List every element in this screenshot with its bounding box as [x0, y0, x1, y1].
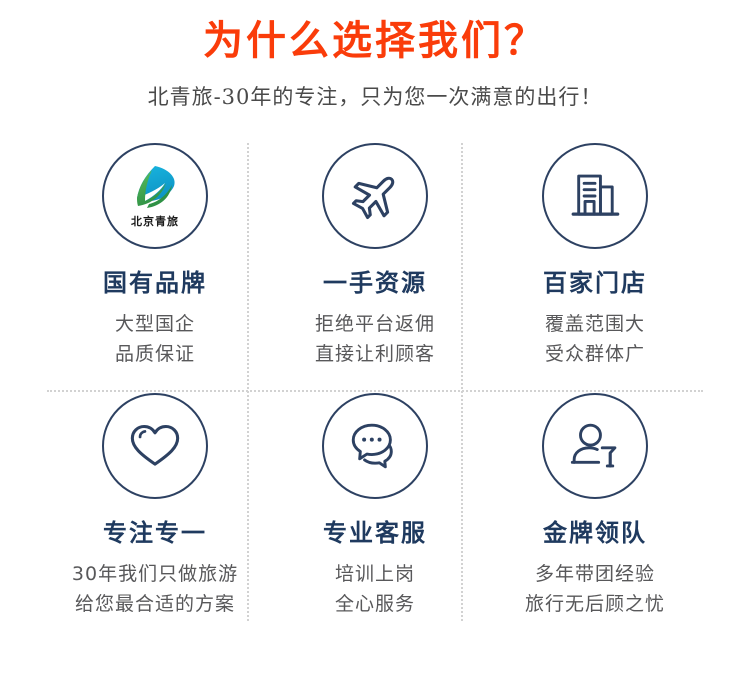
feature-line: 全心服务: [335, 590, 415, 619]
feature-line: 品质保证: [115, 340, 195, 369]
feature-card-state-owned-brand[interactable]: 北京青旅 国有品牌 大型国企 品质保证: [45, 139, 265, 389]
icon-circle: [322, 393, 428, 499]
feature-line: 覆盖范围大: [545, 310, 645, 339]
feature-card-first-hand-resources[interactable]: 一手资源 拒绝平台返佣 直接让利顾客: [265, 139, 485, 389]
feature-title: 金牌领队: [543, 519, 647, 548]
feature-title: 专业客服: [323, 519, 427, 548]
feature-line: 培训上岗: [335, 560, 415, 589]
feature-line: 给您最合适的方案: [72, 590, 238, 619]
feature-line: 直接让利顾客: [315, 340, 435, 369]
icon-circle: [322, 143, 428, 249]
promo-banner: 为什么选择我们？ 北青旅-30年的专注，只为您一次满意的出行！: [0, 0, 750, 690]
brand-logo-icon: 北京青旅: [125, 164, 185, 229]
storefront-building-icon: [566, 167, 624, 225]
feature-description: 拒绝平台返佣 直接让利顾客: [315, 310, 435, 369]
feature-description: 培训上岗 全心服务: [335, 560, 415, 619]
header: 为什么选择我们？ 北青旅-30年的专注，只为您一次满意的出行！: [0, 0, 750, 111]
feature-line: 多年带团经验: [525, 560, 665, 589]
feature-line: 大型国企: [115, 310, 195, 339]
icon-circle: 北京青旅: [102, 143, 208, 249]
feature-card-gold-tour-leader[interactable]: 金牌领队 多年带团经验 旅行无后顾之忧: [485, 389, 705, 639]
chat-bubbles-icon: [346, 417, 404, 475]
page-title: 为什么选择我们？: [0, 16, 750, 66]
features-grid: 北京青旅 国有品牌 大型国企 品质保证 一手资源 拒绝平台返佣 直接让利: [45, 139, 705, 639]
tour-guide-person-flag-icon: [566, 417, 624, 475]
feature-description: 30年我们只做旅游 给您最合适的方案: [72, 560, 238, 619]
feature-title: 百家门店: [543, 269, 647, 298]
feature-title: 一手资源: [323, 269, 427, 298]
feature-title: 国有品牌: [103, 269, 207, 298]
feature-line: 旅行无后顾之忧: [525, 590, 665, 619]
feature-card-focus[interactable]: 专注专一 30年我们只做旅游 给您最合适的方案: [45, 389, 265, 639]
feature-title: 专注专一: [103, 519, 207, 548]
heart-icon: [126, 417, 184, 475]
feature-description: 多年带团经验 旅行无后顾之忧: [525, 560, 665, 619]
icon-circle: [542, 143, 648, 249]
page-subtitle: 北青旅-30年的专注，只为您一次满意的出行！: [0, 84, 750, 111]
icon-circle: [102, 393, 208, 499]
feature-line: 30年我们只做旅游: [72, 560, 238, 589]
airplane-icon: [346, 167, 404, 225]
feature-line: 拒绝平台返佣: [315, 310, 435, 339]
feature-card-hundred-stores[interactable]: 百家门店 覆盖范围大 受众群体广: [485, 139, 705, 389]
feature-description: 大型国企 品质保证: [115, 310, 195, 369]
feature-line: 受众群体广: [545, 340, 645, 369]
feature-description: 覆盖范围大 受众群体广: [545, 310, 645, 369]
feature-card-professional-service[interactable]: 专业客服 培训上岗 全心服务: [265, 389, 485, 639]
logo-brand-text: 北京青旅: [131, 213, 179, 229]
icon-circle: [542, 393, 648, 499]
